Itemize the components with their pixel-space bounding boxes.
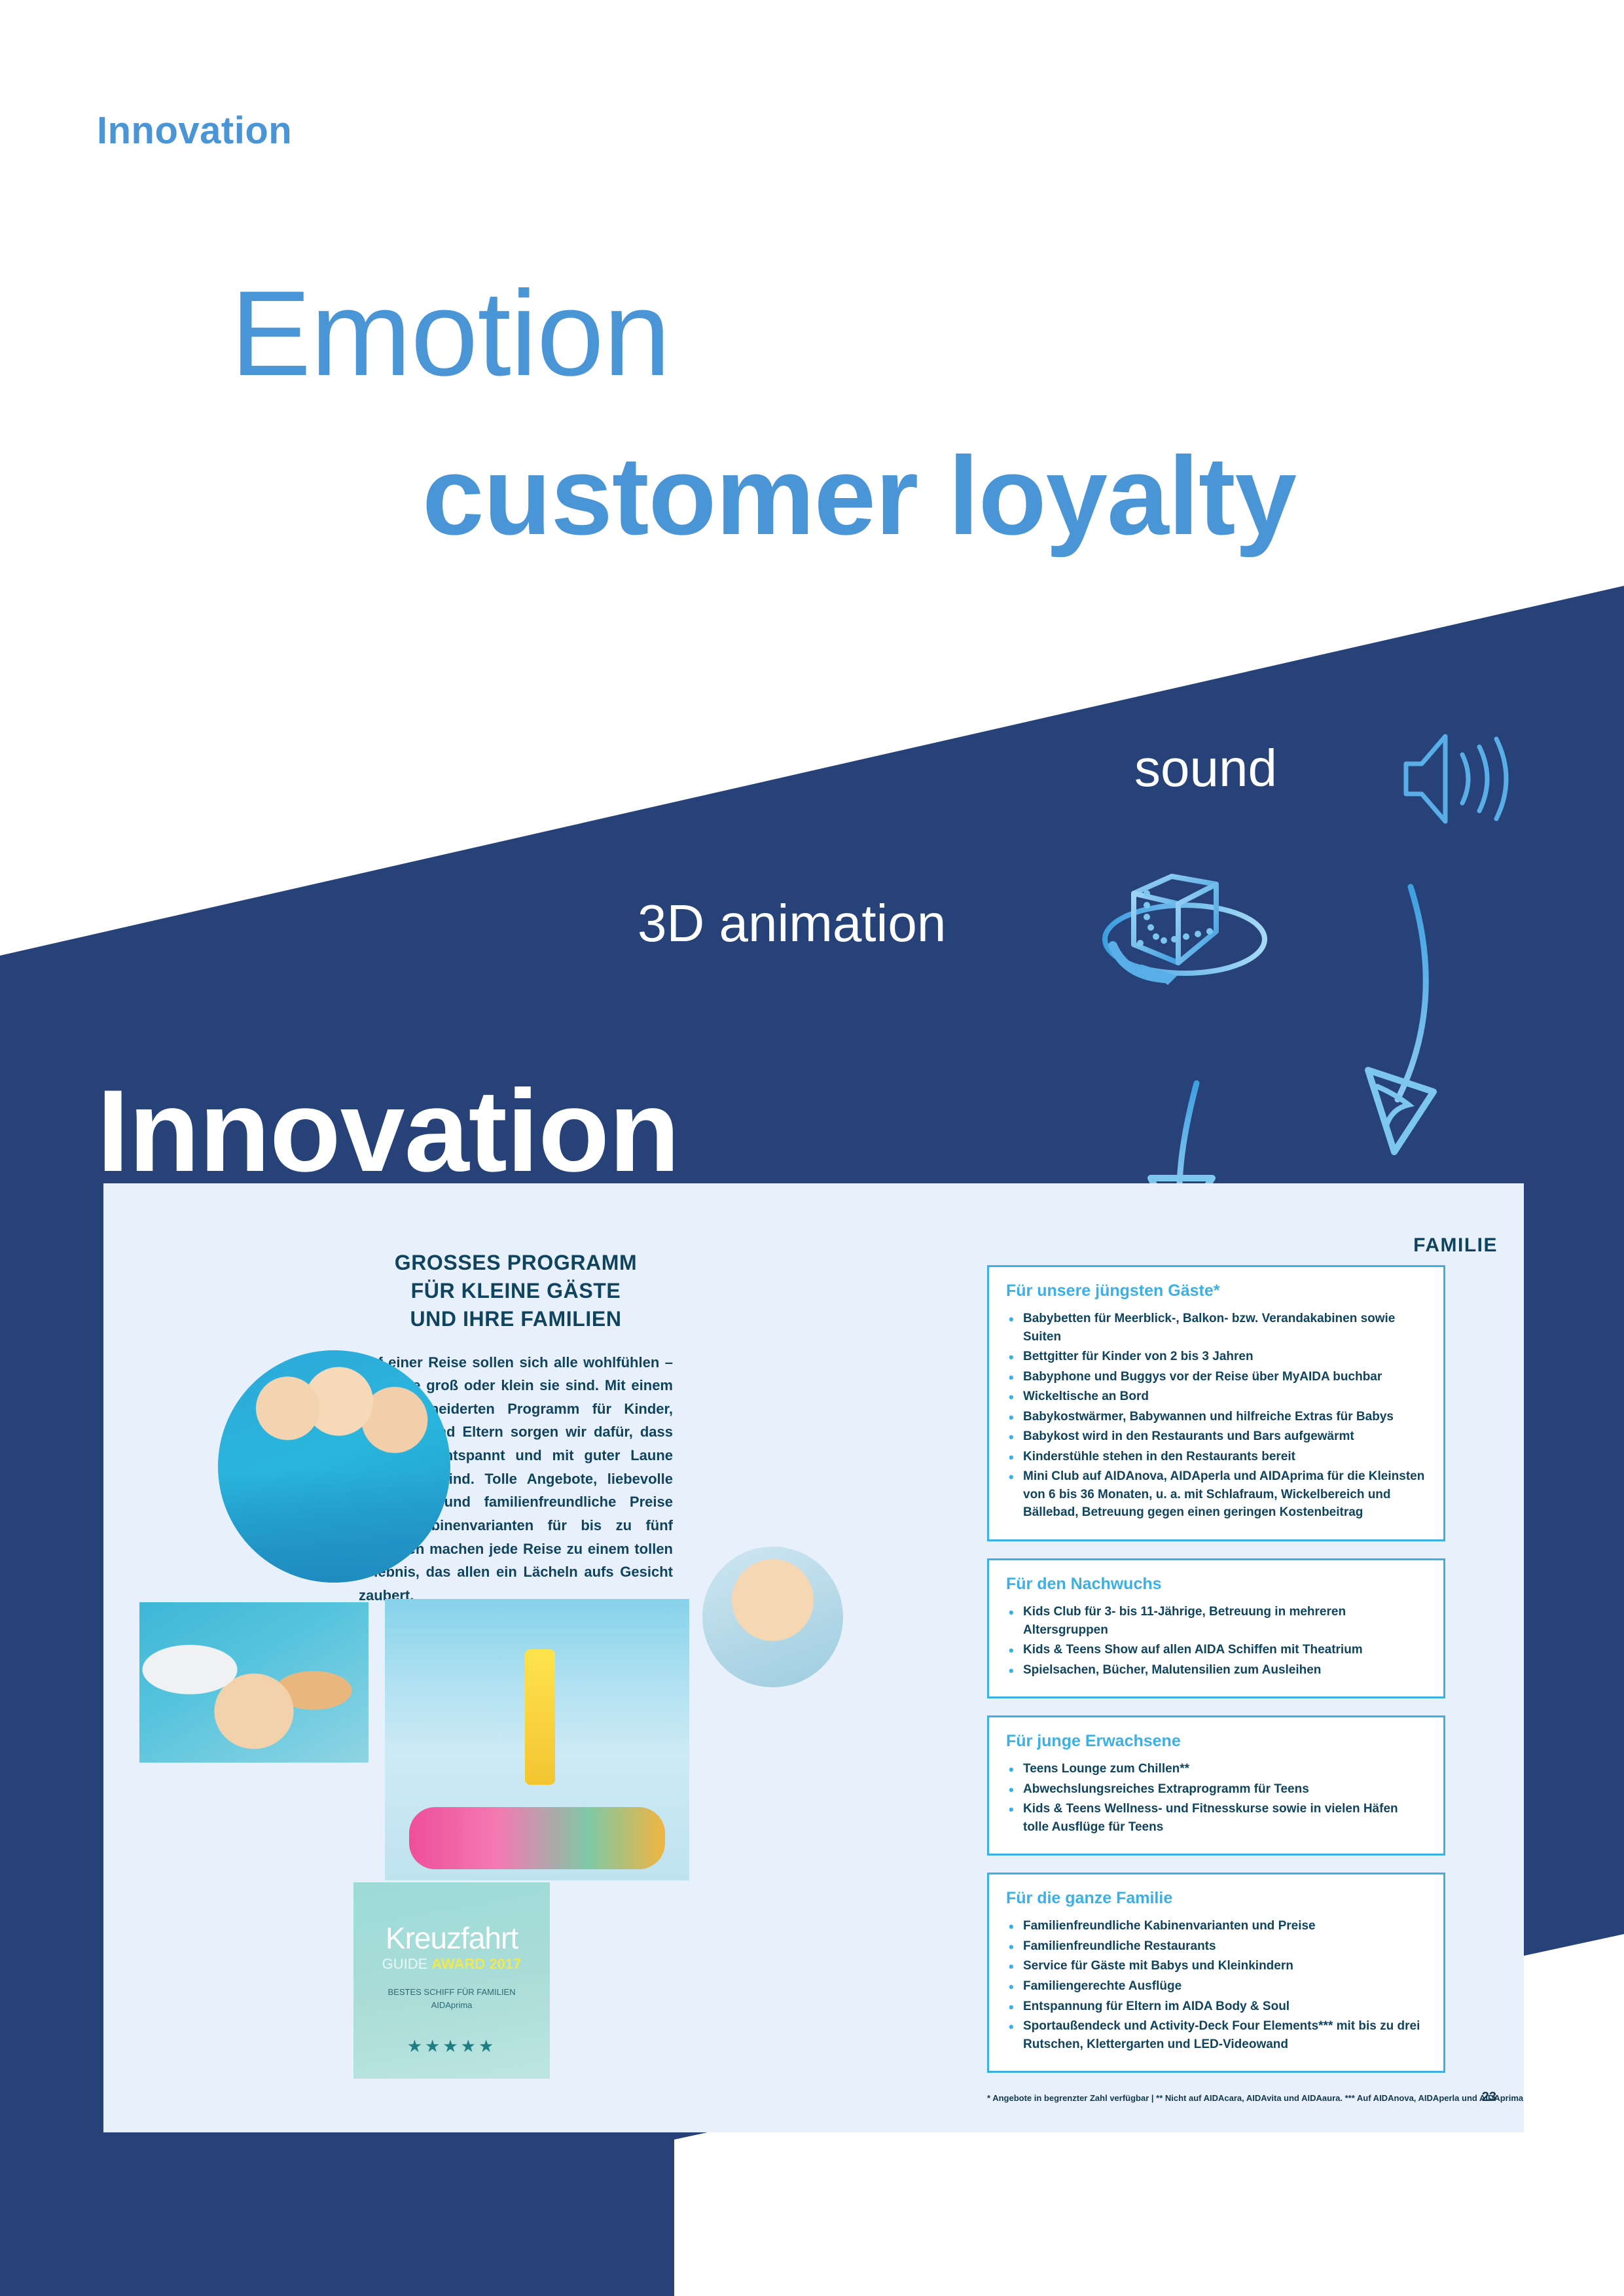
list-item: Abwechslungsreiches Extraprogramm für Te…	[1006, 1780, 1426, 1799]
award-badge: Kreuzfahrt GUIDE AWARD 2017 BESTES SCHIF…	[353, 1882, 550, 2079]
photo-kids-club	[385, 1599, 689, 1880]
brochure-page-number: 23	[1482, 2090, 1496, 2105]
brochure-title-line-3: UND IHRE FAMILIEN	[359, 1305, 673, 1333]
brochure-right-column: Für unsere jüngsten Gäste* Babybetten fü…	[987, 1265, 1445, 2090]
list-item: Kinderstühle stehen in den Restaurants b…	[1006, 1448, 1426, 1466]
award-category: BESTES SCHIFF FÜR FAMILIEN AIDAprima	[368, 1986, 535, 2011]
award-category-line: BESTES SCHIFF FÜR FAMILIEN	[368, 1986, 535, 1999]
brochure-footnote: * Angebote in begrenzter Zahl verfügbar …	[987, 2092, 1524, 2105]
list-item: Teens Lounge zum Chillen**	[1006, 1760, 1426, 1778]
award-title: Kreuzfahrt	[353, 1920, 550, 1956]
list-item: Babybetten für Meerblick-, Balkon- bzw. …	[1006, 1310, 1426, 1346]
brochure-title-line-2: FÜR KLEINE GÄSTE	[359, 1277, 673, 1305]
info-box-youngest-guests: Für unsere jüngsten Gäste* Babybetten fü…	[987, 1265, 1445, 1541]
photo-pool-family	[218, 1350, 450, 1583]
info-box-list: Teens Lounge zum Chillen** Abwechslungsr…	[1006, 1760, 1426, 1836]
slide-canvas: Innovation Emotion customer loyalty soun…	[0, 0, 1624, 2296]
list-item: Sportaußendeck und Activity-Deck Four El…	[1006, 2017, 1426, 2053]
info-box-list: Familienfreundliche Kabinenvarianten und…	[1006, 1917, 1426, 2053]
list-item: Babyphone und Buggys vor der Reise über …	[1006, 1368, 1426, 1386]
award-brand: AIDAprima	[368, 1999, 535, 2012]
headline-customer-loyalty: customer loyalty	[422, 440, 1296, 552]
list-item: Service für Gäste mit Babys und Kleinkin…	[1006, 1957, 1426, 1975]
list-item: Wickeltische an Bord	[1006, 1388, 1426, 1406]
photo-kids-playing	[139, 1602, 369, 1763]
list-item: Bettgitter für Kinder von 2 bis 3 Jahren	[1006, 1348, 1426, 1366]
award-guide-word: GUIDE	[382, 1956, 428, 1972]
speaker-wave-icon	[1399, 723, 1524, 834]
list-item: Spielsachen, Bücher, Malutensilien zum A…	[1006, 1661, 1426, 1679]
list-item: Mini Club auf AIDAnova, AIDAperla und AI…	[1006, 1467, 1426, 1522]
award-subtitle: GUIDE AWARD 2017	[353, 1956, 550, 1973]
list-item: Familienfreundliche Kabinenvarianten und…	[1006, 1917, 1426, 1935]
headline-emotion: Emotion	[230, 274, 670, 395]
info-box-junge-erwachsene: Für junge Erwachsene Teens Lounge zum Ch…	[987, 1715, 1445, 1856]
brochure-page: FAMILIE GROSSES PROGRAMM FÜR KLEINE GÄST…	[103, 1183, 1524, 2132]
list-item: Babykost wird in den Restaurants und Bar…	[1006, 1427, 1426, 1446]
list-item: Familiengerechte Ausflüge	[1006, 1977, 1426, 1996]
award-stars: ★★★★★	[353, 2036, 550, 2056]
list-item: Kids Club für 3- bis 11-Jährige, Betreuu…	[1006, 1603, 1426, 1639]
brochure-section-tag: FAMILIE	[1413, 1234, 1498, 1257]
info-box-nachwuchs: Für den Nachwuchs Kids Club für 3- bis 1…	[987, 1558, 1445, 1698]
info-box-title: Für junge Erwachsene	[1006, 1732, 1426, 1751]
list-item: Kids & Teens Wellness- und Fitnesskurse …	[1006, 1800, 1426, 1836]
brochure-title-line-1: GROSSES PROGRAMM	[359, 1249, 673, 1277]
brochure-title: GROSSES PROGRAMM FÜR KLEINE GÄSTE UND IH…	[359, 1249, 673, 1334]
info-box-list: Babybetten für Meerblick-, Balkon- bzw. …	[1006, 1310, 1426, 1522]
list-item: Entspannung für Eltern im AIDA Body & So…	[1006, 1998, 1426, 2016]
info-box-title: Für die ganze Familie	[1006, 1889, 1426, 1908]
list-item: Familienfreundliche Restaurants	[1006, 1937, 1426, 1956]
callout-label-3d-animation: 3D animation	[638, 893, 946, 954]
info-box-title: Für unsere jüngsten Gäste*	[1006, 1282, 1426, 1300]
list-item: Babykostwärmer, Babywannen und hilfreich…	[1006, 1408, 1426, 1426]
page-kicker: Innovation	[97, 109, 292, 152]
info-box-title: Für den Nachwuchs	[1006, 1575, 1426, 1594]
info-box-ganze-familie: Für die ganze Familie Familienfreundlich…	[987, 1873, 1445, 2073]
list-item: Kids & Teens Show auf allen AIDA Schiffe…	[1006, 1641, 1426, 1659]
info-box-list: Kids Club für 3- bis 11-Jährige, Betreuu…	[1006, 1603, 1426, 1679]
callout-label-sound: sound	[1134, 738, 1277, 798]
section-title-innovation: Innovation	[97, 1064, 679, 1198]
award-award-word: AWARD 2017	[431, 1956, 521, 1972]
rotating-cube-icon	[1100, 848, 1290, 1011]
photo-baby	[702, 1547, 843, 1687]
